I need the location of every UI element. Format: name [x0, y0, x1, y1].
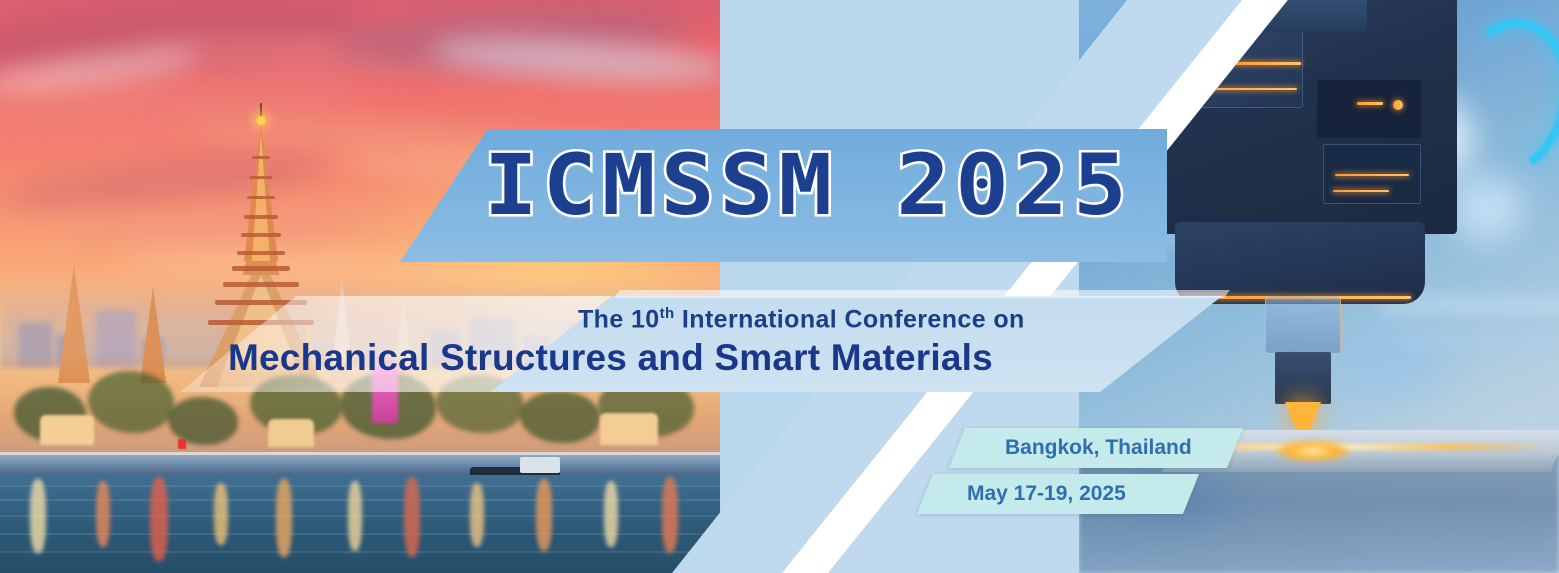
edition-suffix: International Conference on [675, 305, 1025, 333]
laser-nozzle-body [1275, 352, 1331, 404]
date-text: May 17-19, 2025 [967, 482, 1126, 506]
conference-edition-line: The 10th International Conference on [578, 305, 1025, 334]
conference-banner: ICMSSM 2025 The 10th International Confe… [0, 0, 1559, 573]
chao-phraya-river [0, 475, 720, 573]
date-badge: May 17-19, 2025 [917, 474, 1199, 514]
bangkok-sunset-photo [0, 0, 720, 573]
location-badge: Bangkok, Thailand [949, 428, 1243, 468]
edition-prefix: The 10 [578, 305, 660, 333]
laser-hot-spot [1275, 440, 1351, 462]
river-pier [0, 455, 720, 477]
conference-full-name: Mechanical Structures and Smart Material… [228, 337, 993, 379]
laser-glass-barrel [1265, 296, 1341, 354]
location-text: Bangkok, Thailand [1005, 436, 1192, 460]
conference-acronym-title: ICMSSM 2025 [484, 143, 1132, 227]
spire-finial [257, 116, 266, 125]
red-light [178, 439, 186, 449]
machine-base-rail [1079, 455, 1559, 573]
edition-ordinal: th [660, 305, 675, 322]
